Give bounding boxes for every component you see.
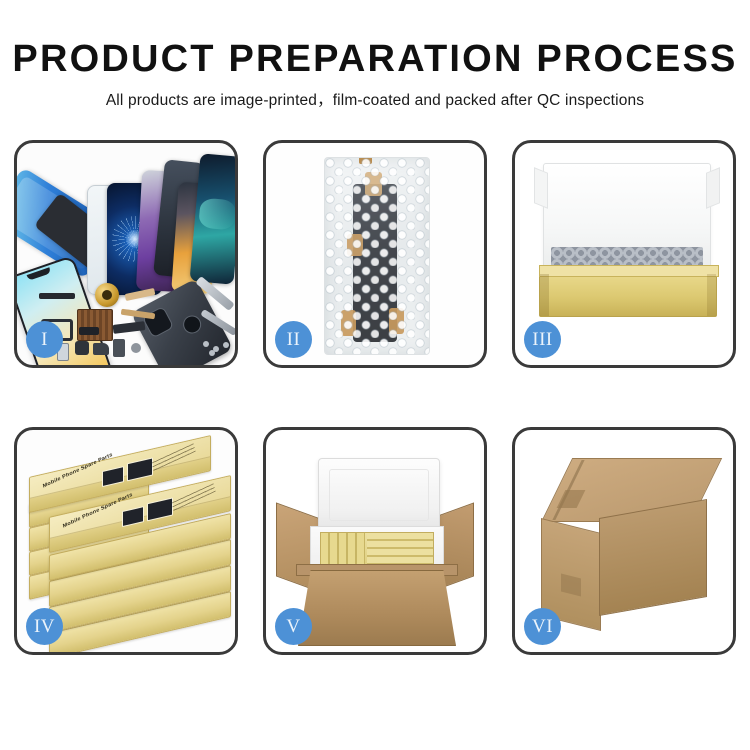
carton-front-face: [298, 570, 456, 646]
tray-left-edge: [540, 274, 549, 316]
screw-icon: [203, 341, 209, 347]
screws-group: [203, 341, 231, 355]
step-panel-5: V: [263, 427, 487, 655]
camera-module-icon: [142, 306, 174, 338]
step-badge-5: V: [275, 608, 312, 645]
step-badge-1: I: [26, 321, 63, 358]
page-subtitle: All products are image-printed，film-coat…: [0, 91, 750, 111]
small-component-5: [131, 343, 141, 353]
step-panel-2: II: [263, 140, 487, 368]
small-component-4: [113, 339, 125, 357]
step-panel-3: III: [512, 140, 736, 368]
small-component-2: [75, 341, 89, 355]
box-window-left: [102, 466, 124, 487]
step-panel-6: VI: [512, 427, 736, 655]
small-component-3: [93, 343, 109, 355]
tray-right-edge: [707, 274, 716, 316]
process-step-grid: I II: [14, 140, 736, 700]
step-panel-1: I: [14, 140, 238, 368]
header: PRODUCT PREPARATION PROCESS All products…: [0, 36, 750, 111]
infographic-page: PRODUCT PREPARATION PROCESS All products…: [0, 0, 750, 750]
camera-lens-icon: [180, 312, 204, 336]
step-badge-2: II: [275, 321, 312, 358]
yellow-box-tray: [539, 273, 717, 317]
screw-icon: [223, 342, 229, 348]
page-title: PRODUCT PREPARATION PROCESS: [0, 36, 750, 82]
bubble-wrap-bag: [324, 157, 430, 355]
step-badge-3: III: [524, 321, 561, 358]
screw-icon: [209, 350, 215, 356]
flex-cable-part-a: [39, 293, 75, 299]
logic-board-chip: [77, 309, 113, 341]
bubble-texture: [325, 158, 429, 354]
step-panel-4: Mobile Phone Spare Parts Mobile Phone Sp…: [14, 427, 238, 655]
carton-right-face: [599, 499, 707, 616]
step-badge-6: VI: [524, 608, 561, 645]
small-component-6: [79, 327, 99, 335]
foam-lid: [318, 458, 440, 534]
speaker-coil-part: [95, 283, 119, 307]
box-window-left: [122, 506, 144, 527]
step-badge-4: IV: [26, 608, 63, 645]
